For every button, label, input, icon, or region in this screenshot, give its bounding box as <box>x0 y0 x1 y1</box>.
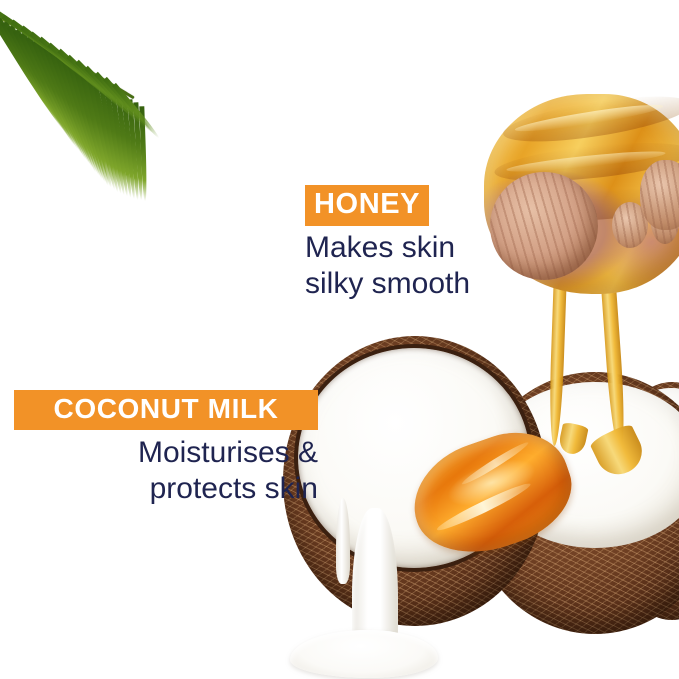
coconut-milk-puddle <box>290 630 438 678</box>
dipper-wood-end <box>640 160 679 230</box>
callout-honey: HONEY Makes skin silky smooth <box>305 185 470 302</box>
honey-dipper-icon <box>484 94 679 294</box>
description-honey: Makes skin silky smooth <box>305 230 470 302</box>
badge-coconut-milk: COCONUT MILK <box>14 390 318 430</box>
dipper-wood-bulb <box>490 172 598 280</box>
palm-frond-icon <box>0 0 190 204</box>
honey-highlight <box>435 479 533 534</box>
description-coconut-milk: Moisturises & protects skin <box>14 435 318 507</box>
honey-highlight <box>460 439 530 487</box>
product-benefit-graphic: HONEY Makes skin silky smooth COCONUT MI… <box>0 0 679 679</box>
callout-coconut-milk: COCONUT MILK Moisturises & protects skin <box>14 390 318 507</box>
badge-honey: HONEY <box>305 185 429 226</box>
